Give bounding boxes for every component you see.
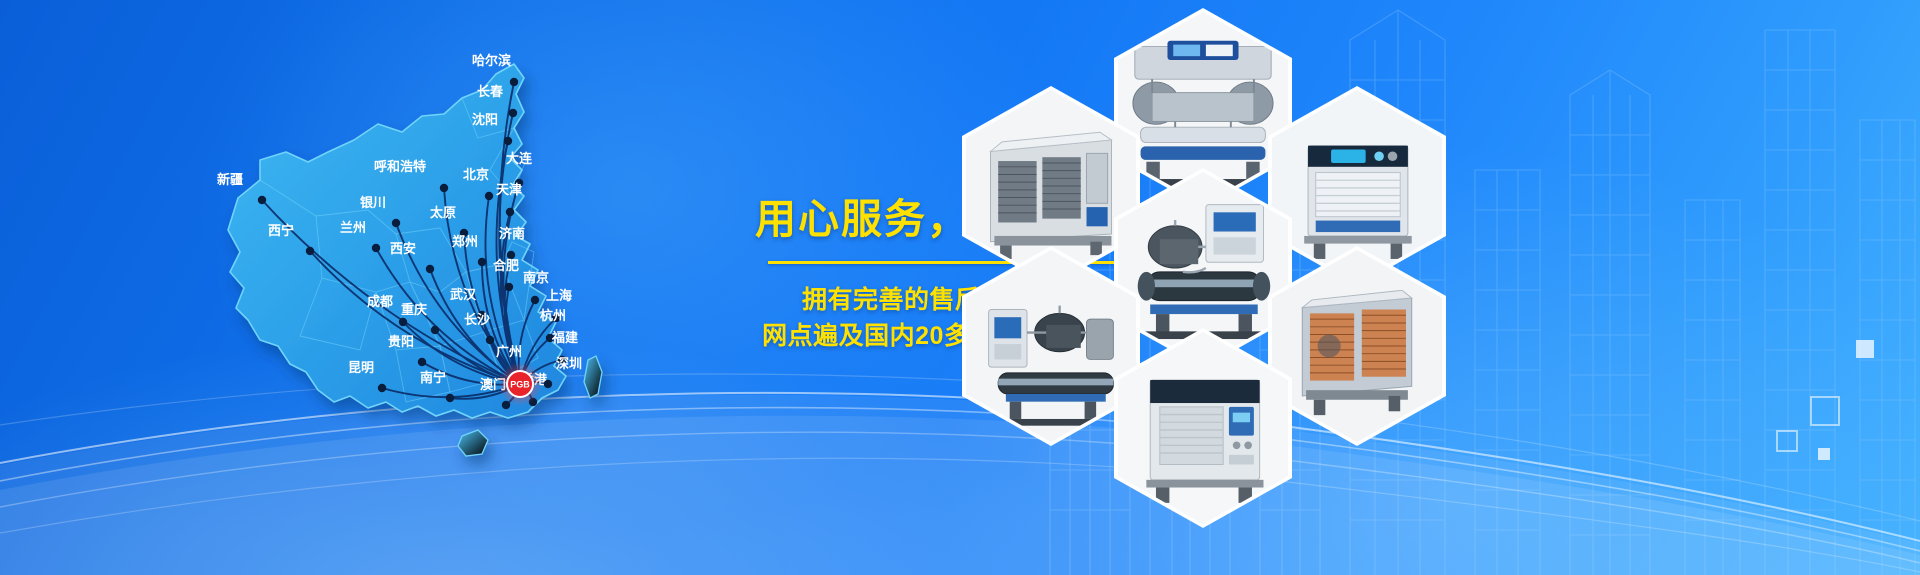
hub-label: PGB bbox=[510, 380, 530, 390]
city-dot bbox=[509, 109, 517, 117]
product-hex-air-cooled-condenser[interactable] bbox=[1268, 246, 1446, 446]
city-label: 南宁 bbox=[420, 370, 446, 385]
city-dot bbox=[306, 247, 314, 255]
city-dot bbox=[531, 296, 539, 304]
decor-square-filled-1 bbox=[1856, 340, 1874, 358]
decor-square-filled-2 bbox=[1818, 448, 1830, 460]
city-label: 新疆 bbox=[217, 172, 243, 187]
city-label: 杭州 bbox=[540, 308, 566, 323]
product-hexagon-gallery bbox=[940, 0, 1500, 575]
city-label: 武汉 bbox=[450, 287, 477, 302]
city-dot bbox=[418, 358, 426, 366]
city-label: 北京 bbox=[463, 167, 489, 182]
city-label: 深圳 bbox=[556, 356, 582, 371]
city-dot bbox=[440, 184, 448, 192]
city-label: 合肥 bbox=[493, 258, 519, 273]
promo-banner: 哈尔滨长春沈阳呼和浩特北京大连天津新疆银川太原兰州西宁郑州西安济南合肥南京武汉长… bbox=[0, 0, 1920, 575]
city-dot bbox=[504, 137, 512, 145]
city-label: 呼和浩特 bbox=[374, 159, 426, 174]
city-dot bbox=[510, 78, 518, 86]
city-label: 天津 bbox=[496, 182, 522, 197]
china-map-svg: 哈尔滨长春沈阳呼和浩特北京大连天津新疆银川太原兰州西宁郑州西安济南合肥南京武汉长… bbox=[110, 20, 750, 560]
city-label: 沈阳 bbox=[472, 112, 498, 127]
product-image-air-cooled-condenser bbox=[1272, 250, 1442, 442]
city-dot bbox=[506, 208, 514, 216]
city-label: 西宁 bbox=[268, 223, 294, 238]
decor-square-outline-2 bbox=[1776, 430, 1798, 452]
city-label: 西安 bbox=[390, 241, 416, 256]
city-label: 银川 bbox=[360, 195, 386, 210]
product-image-box-type-water-chiller bbox=[1118, 332, 1288, 524]
city-label: 长春 bbox=[477, 84, 504, 99]
city-label: 上海 bbox=[546, 288, 572, 303]
city-dot bbox=[505, 283, 513, 291]
city-label: 大连 bbox=[506, 151, 533, 166]
decor-square-outline-1 bbox=[1810, 396, 1840, 426]
city-dot bbox=[544, 380, 552, 388]
city-label: 福建 bbox=[551, 330, 578, 345]
city-label: 成都 bbox=[367, 294, 393, 309]
china-route-map: 哈尔滨长春沈阳呼和浩特北京大连天津新疆银川太原兰州西宁郑州西安济南合肥南京武汉长… bbox=[110, 20, 750, 560]
city-dot bbox=[486, 336, 494, 344]
city-label: 哈尔滨 bbox=[472, 53, 511, 68]
city-dot bbox=[399, 318, 407, 326]
city-label: 济南 bbox=[499, 226, 525, 241]
city-label: 昆明 bbox=[348, 360, 374, 375]
city-dot bbox=[446, 394, 454, 402]
city-label: 兰州 bbox=[340, 220, 366, 235]
city-dot bbox=[372, 244, 380, 252]
city-label: 郑州 bbox=[452, 234, 478, 249]
city-dot bbox=[378, 384, 386, 392]
city-label: 南京 bbox=[523, 270, 549, 285]
city-dot bbox=[431, 326, 439, 334]
product-image-water-cooled-open-chiller bbox=[966, 250, 1136, 442]
hub-marker: PGB bbox=[498, 362, 542, 406]
city-dot bbox=[392, 219, 400, 227]
city-label: 重庆 bbox=[401, 302, 427, 317]
city-label: 广州 bbox=[496, 344, 522, 359]
city-label: 长沙 bbox=[464, 312, 490, 327]
city-dot bbox=[426, 265, 434, 273]
city-label: 太原 bbox=[429, 205, 456, 220]
city-dot bbox=[485, 192, 493, 200]
city-dot bbox=[258, 196, 266, 204]
product-hex-box-type-water-chiller[interactable] bbox=[1114, 328, 1292, 528]
city-dot bbox=[478, 258, 486, 266]
city-label: 贵阳 bbox=[388, 334, 414, 349]
product-hex-water-cooled-open-chiller[interactable] bbox=[962, 246, 1140, 446]
